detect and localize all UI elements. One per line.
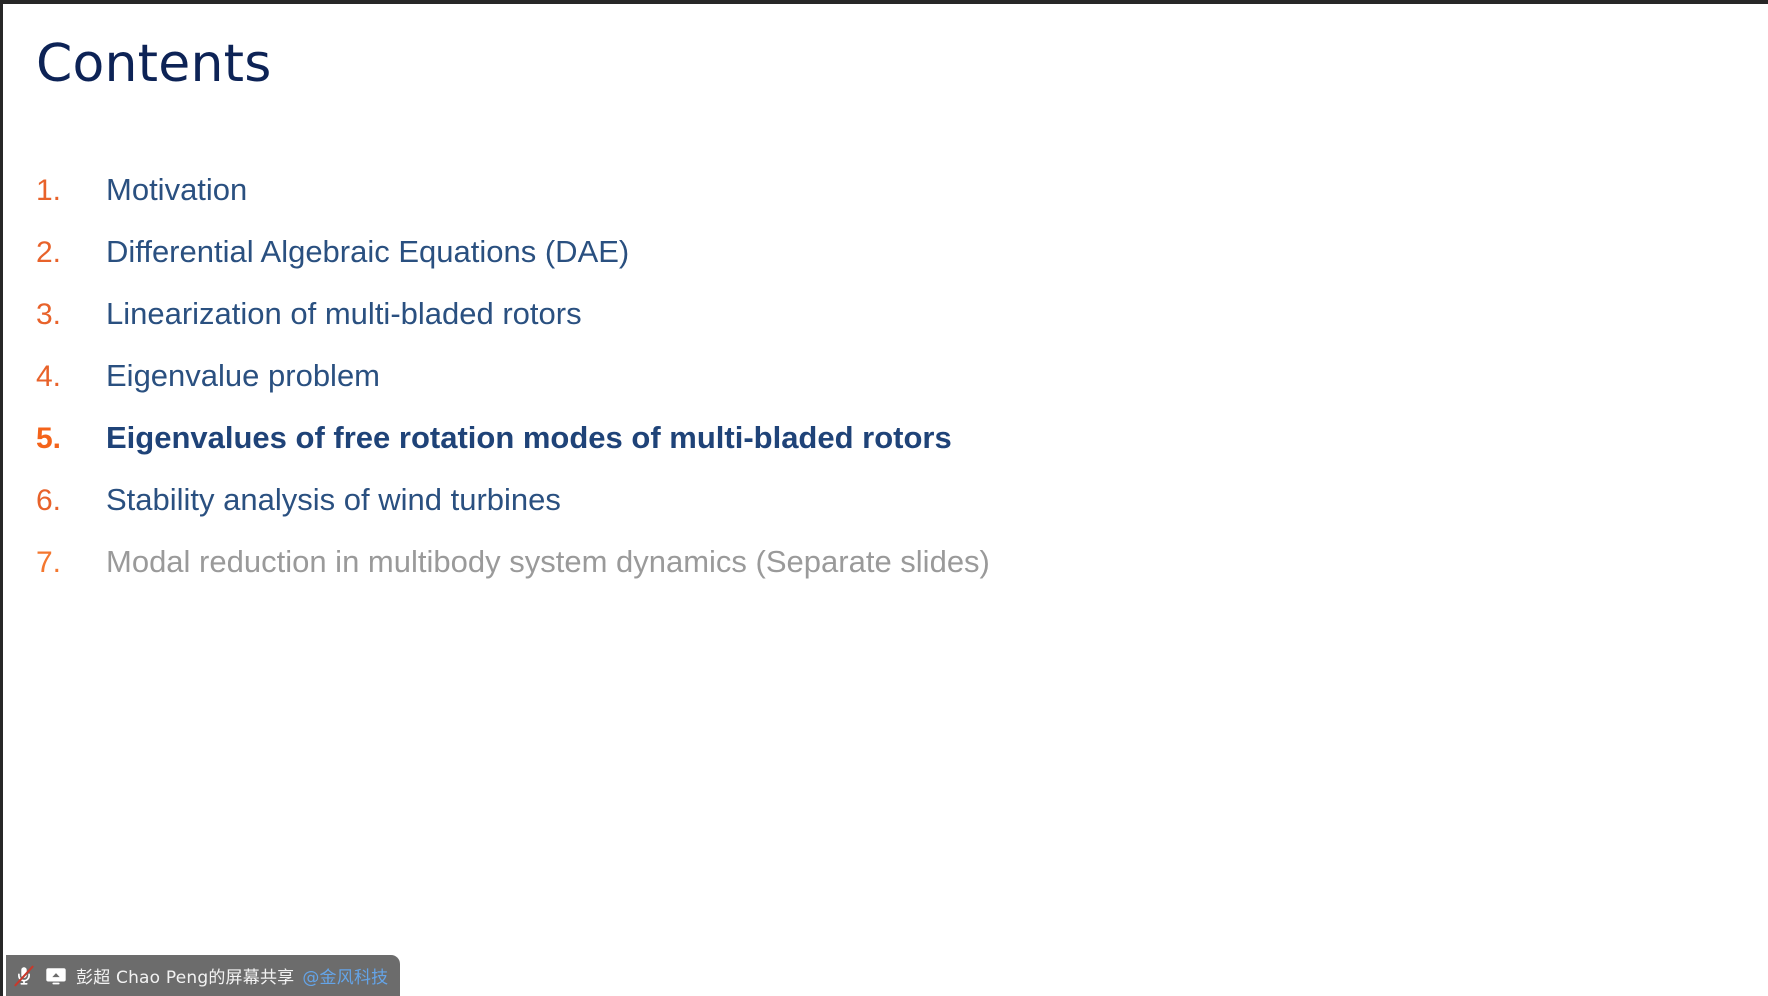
page-title: Contents: [36, 37, 272, 92]
list-item-number: 3.: [36, 284, 106, 346]
list-item-number: 7.: [36, 532, 106, 594]
presentation-slide: Contents 1. Motivation 2. Differential A…: [0, 0, 1768, 996]
list-item-number: 5.: [36, 408, 106, 470]
screen-share-icon[interactable]: [44, 964, 68, 988]
microphone-muted-icon[interactable]: [12, 964, 36, 988]
list-item[interactable]: 6. Stability analysis of wind turbines: [36, 469, 1536, 531]
list-item-label: Eigenvalues of free rotation modes of mu…: [106, 407, 952, 469]
list-item[interactable]: 4. Eigenvalue problem: [36, 345, 1536, 407]
list-item-label: Modal reduction in multibody system dyna…: [106, 531, 990, 593]
list-item[interactable]: 2. Differential Algebraic Equations (DAE…: [36, 221, 1536, 283]
share-organization-label: @金风科技: [302, 963, 388, 988]
contents-list: 1. Motivation 2. Differential Algebraic …: [36, 159, 1536, 593]
list-item-label: Eigenvalue problem: [106, 345, 380, 407]
list-item[interactable]: 1. Motivation: [36, 159, 1536, 221]
list-item-dimmed[interactable]: 7. Modal reduction in multibody system d…: [36, 531, 1536, 593]
list-item-label: Stability analysis of wind turbines: [106, 469, 561, 531]
list-item-label: Motivation: [106, 159, 247, 221]
list-item-active[interactable]: 5. Eigenvalues of free rotation modes of…: [36, 407, 1536, 469]
share-presenter-label: 彭超 Chao Peng的屏幕共享: [76, 963, 294, 988]
list-item-label: Linearization of multi-bladed rotors: [106, 283, 582, 345]
list-item-number: 1.: [36, 160, 106, 222]
list-item[interactable]: 3. Linearization of multi-bladed rotors: [36, 283, 1536, 345]
list-item-label: Differential Algebraic Equations (DAE): [106, 221, 629, 283]
screen-share-status-bar: 彭超 Chao Peng的屏幕共享 @金风科技: [6, 955, 400, 996]
list-item-number: 6.: [36, 470, 106, 532]
list-item-number: 4.: [36, 346, 106, 408]
list-item-number: 2.: [36, 222, 106, 284]
